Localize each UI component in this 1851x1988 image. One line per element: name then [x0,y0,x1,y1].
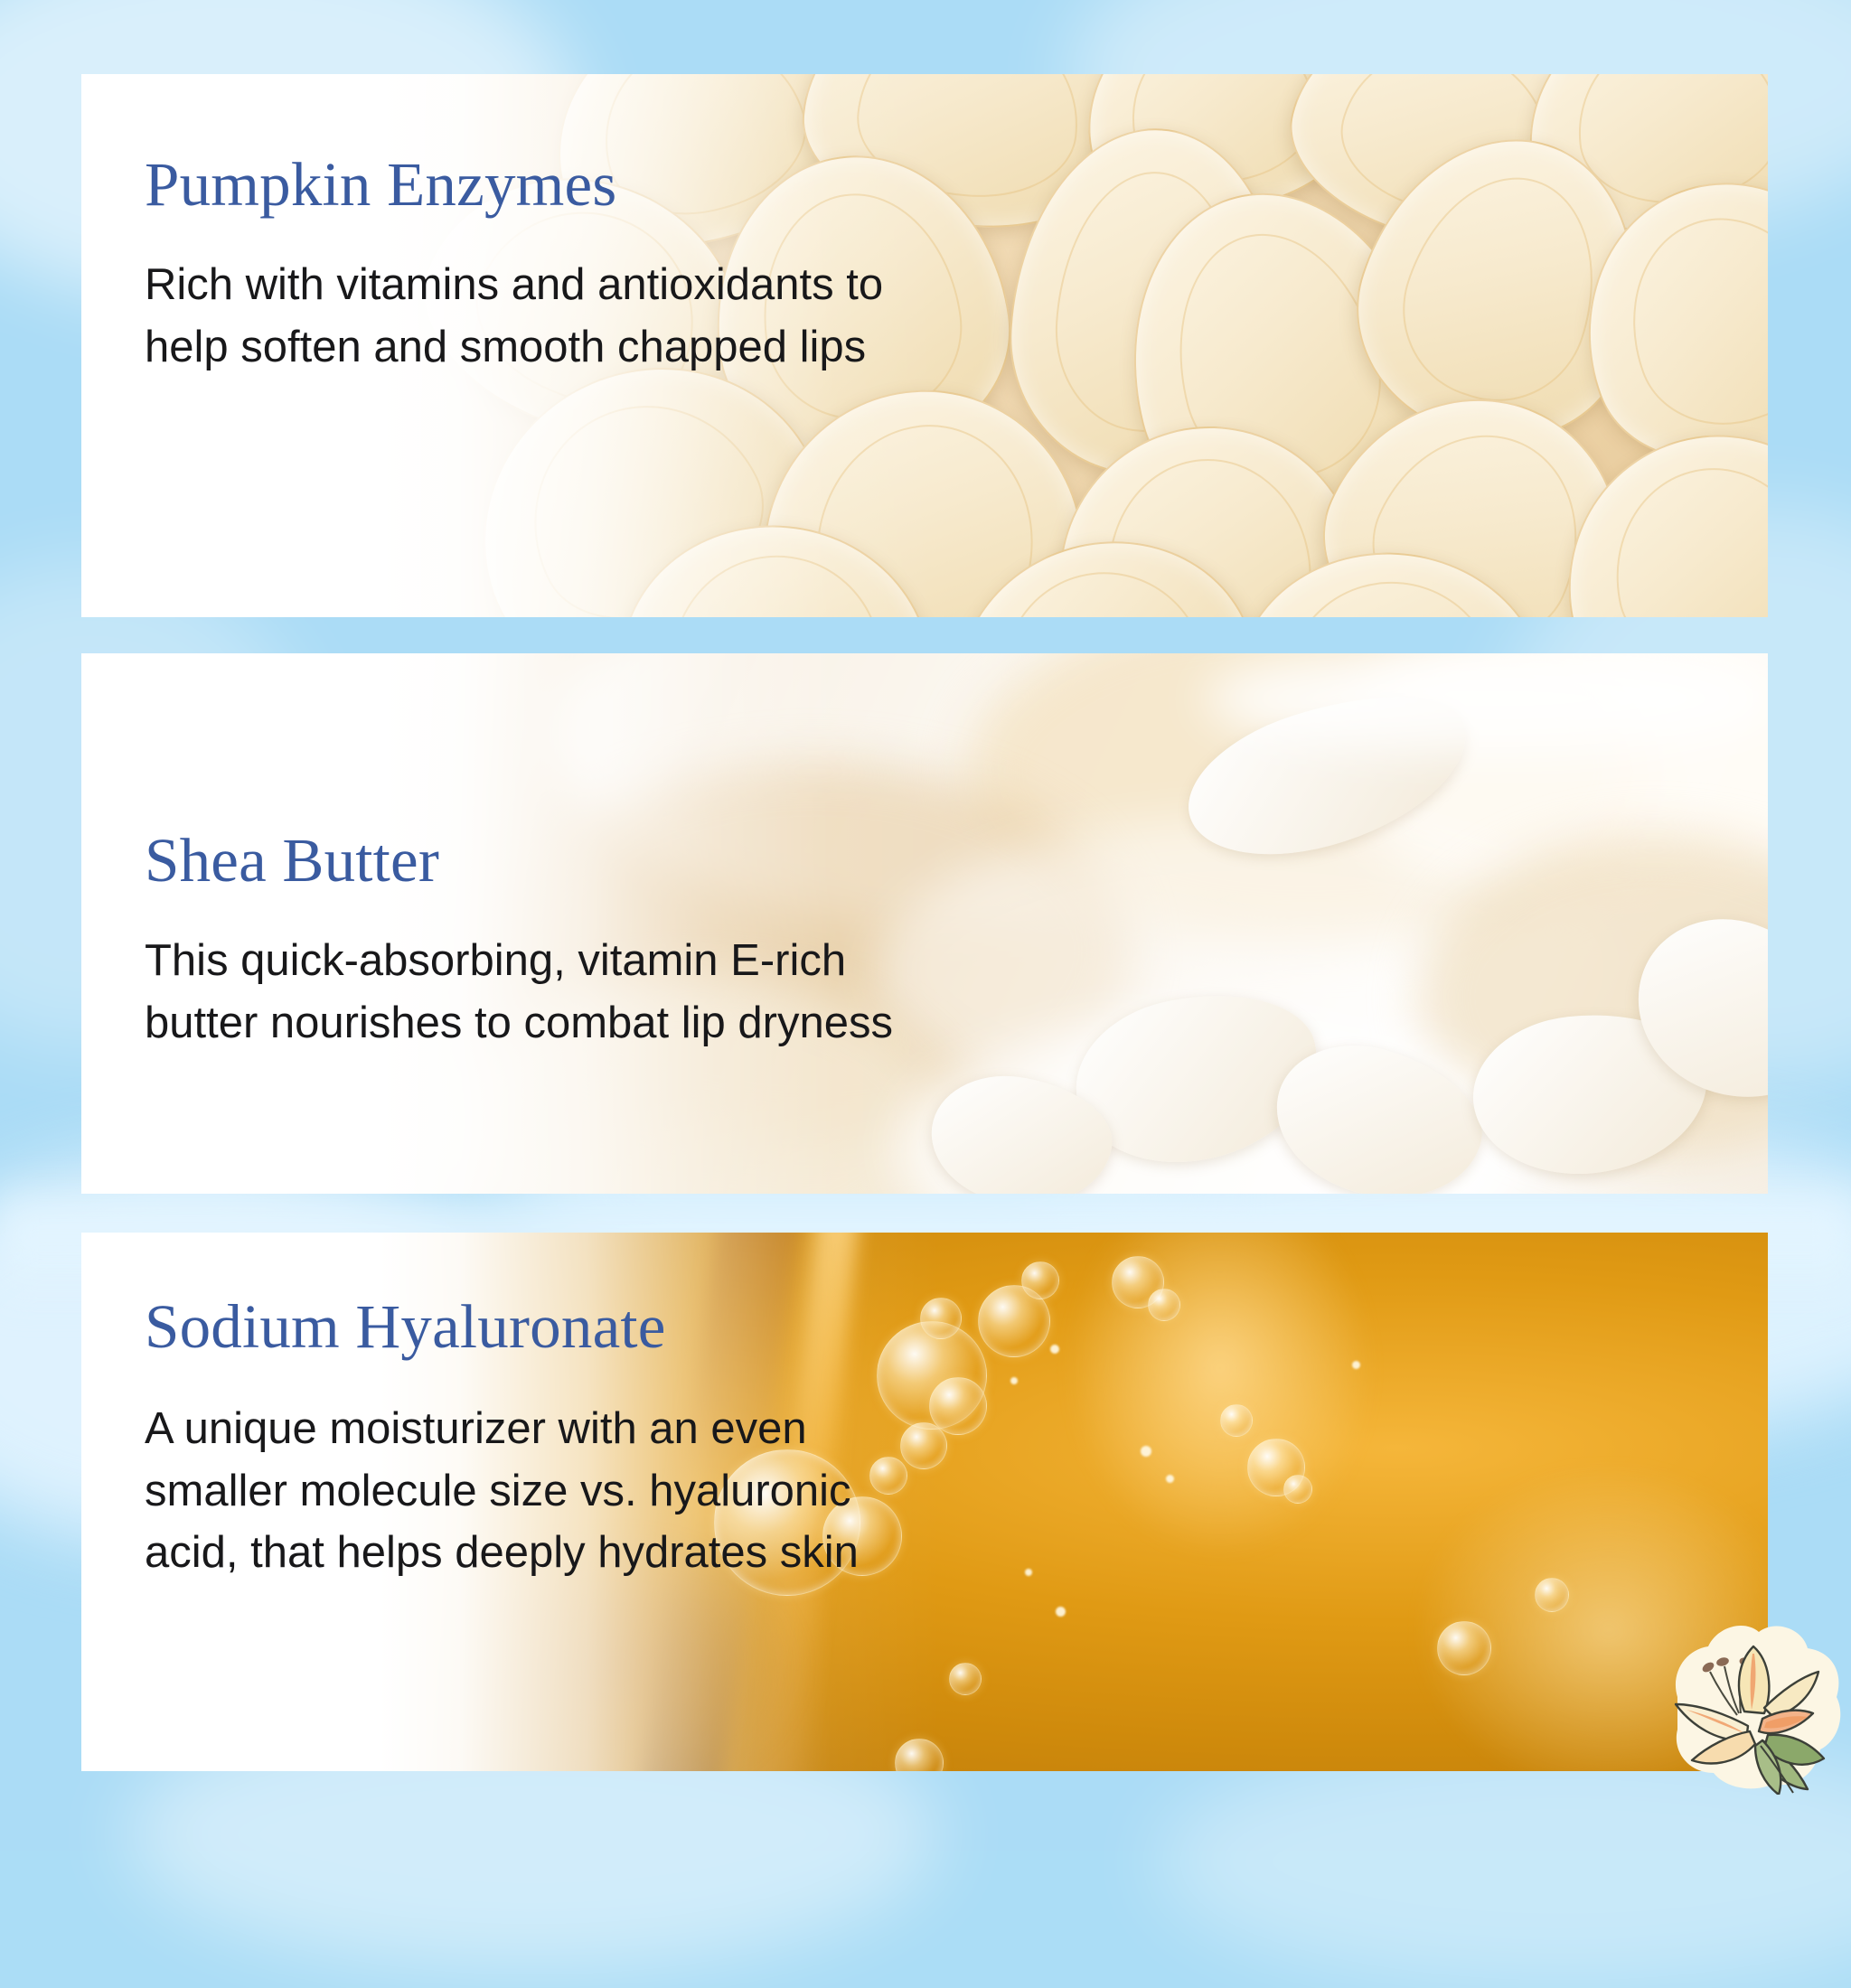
description-line: butter nourishes to combat lip dryness [145,992,893,1055]
ingredient-card-shea-butter: Shea Butter This quick-absorbing, vitami… [81,653,1768,1194]
card-title: Sodium Hyaluronate [145,1296,859,1358]
card-description: This quick-absorbing, vitamin E-rich but… [145,930,893,1054]
card-copy: Pumpkin Enzymes Rich with vitamins and a… [145,154,883,378]
ingredient-card-pumpkin-enzymes: Pumpkin Enzymes Rich with vitamins and a… [81,74,1768,617]
lily-flower-sticker [1661,1614,1851,1795]
card-description: Rich with vitamins and antioxidants to h… [145,254,883,378]
description-line: help soften and smooth chapped lips [145,316,883,379]
description-line: smaller molecule size vs. hyaluronic [145,1460,859,1523]
description-line: A unique moisturizer with an even [145,1398,859,1460]
ingredient-card-sodium-hyaluronate: Sodium Hyaluronate A unique moisturizer … [81,1233,1768,1771]
card-title: Pumpkin Enzymes [145,154,883,216]
description-line: This quick-absorbing, vitamin E-rich [145,930,893,992]
card-copy: Sodium Hyaluronate A unique moisturizer … [145,1296,859,1584]
card-description: A unique moisturizer with an even smalle… [145,1398,859,1584]
card-copy: Shea Butter This quick-absorbing, vitami… [145,830,893,1054]
description-line: acid, that helps deeply hydrates skin [145,1522,859,1584]
card-title: Shea Butter [145,830,893,892]
description-line: Rich with vitamins and antioxidants to [145,254,883,316]
